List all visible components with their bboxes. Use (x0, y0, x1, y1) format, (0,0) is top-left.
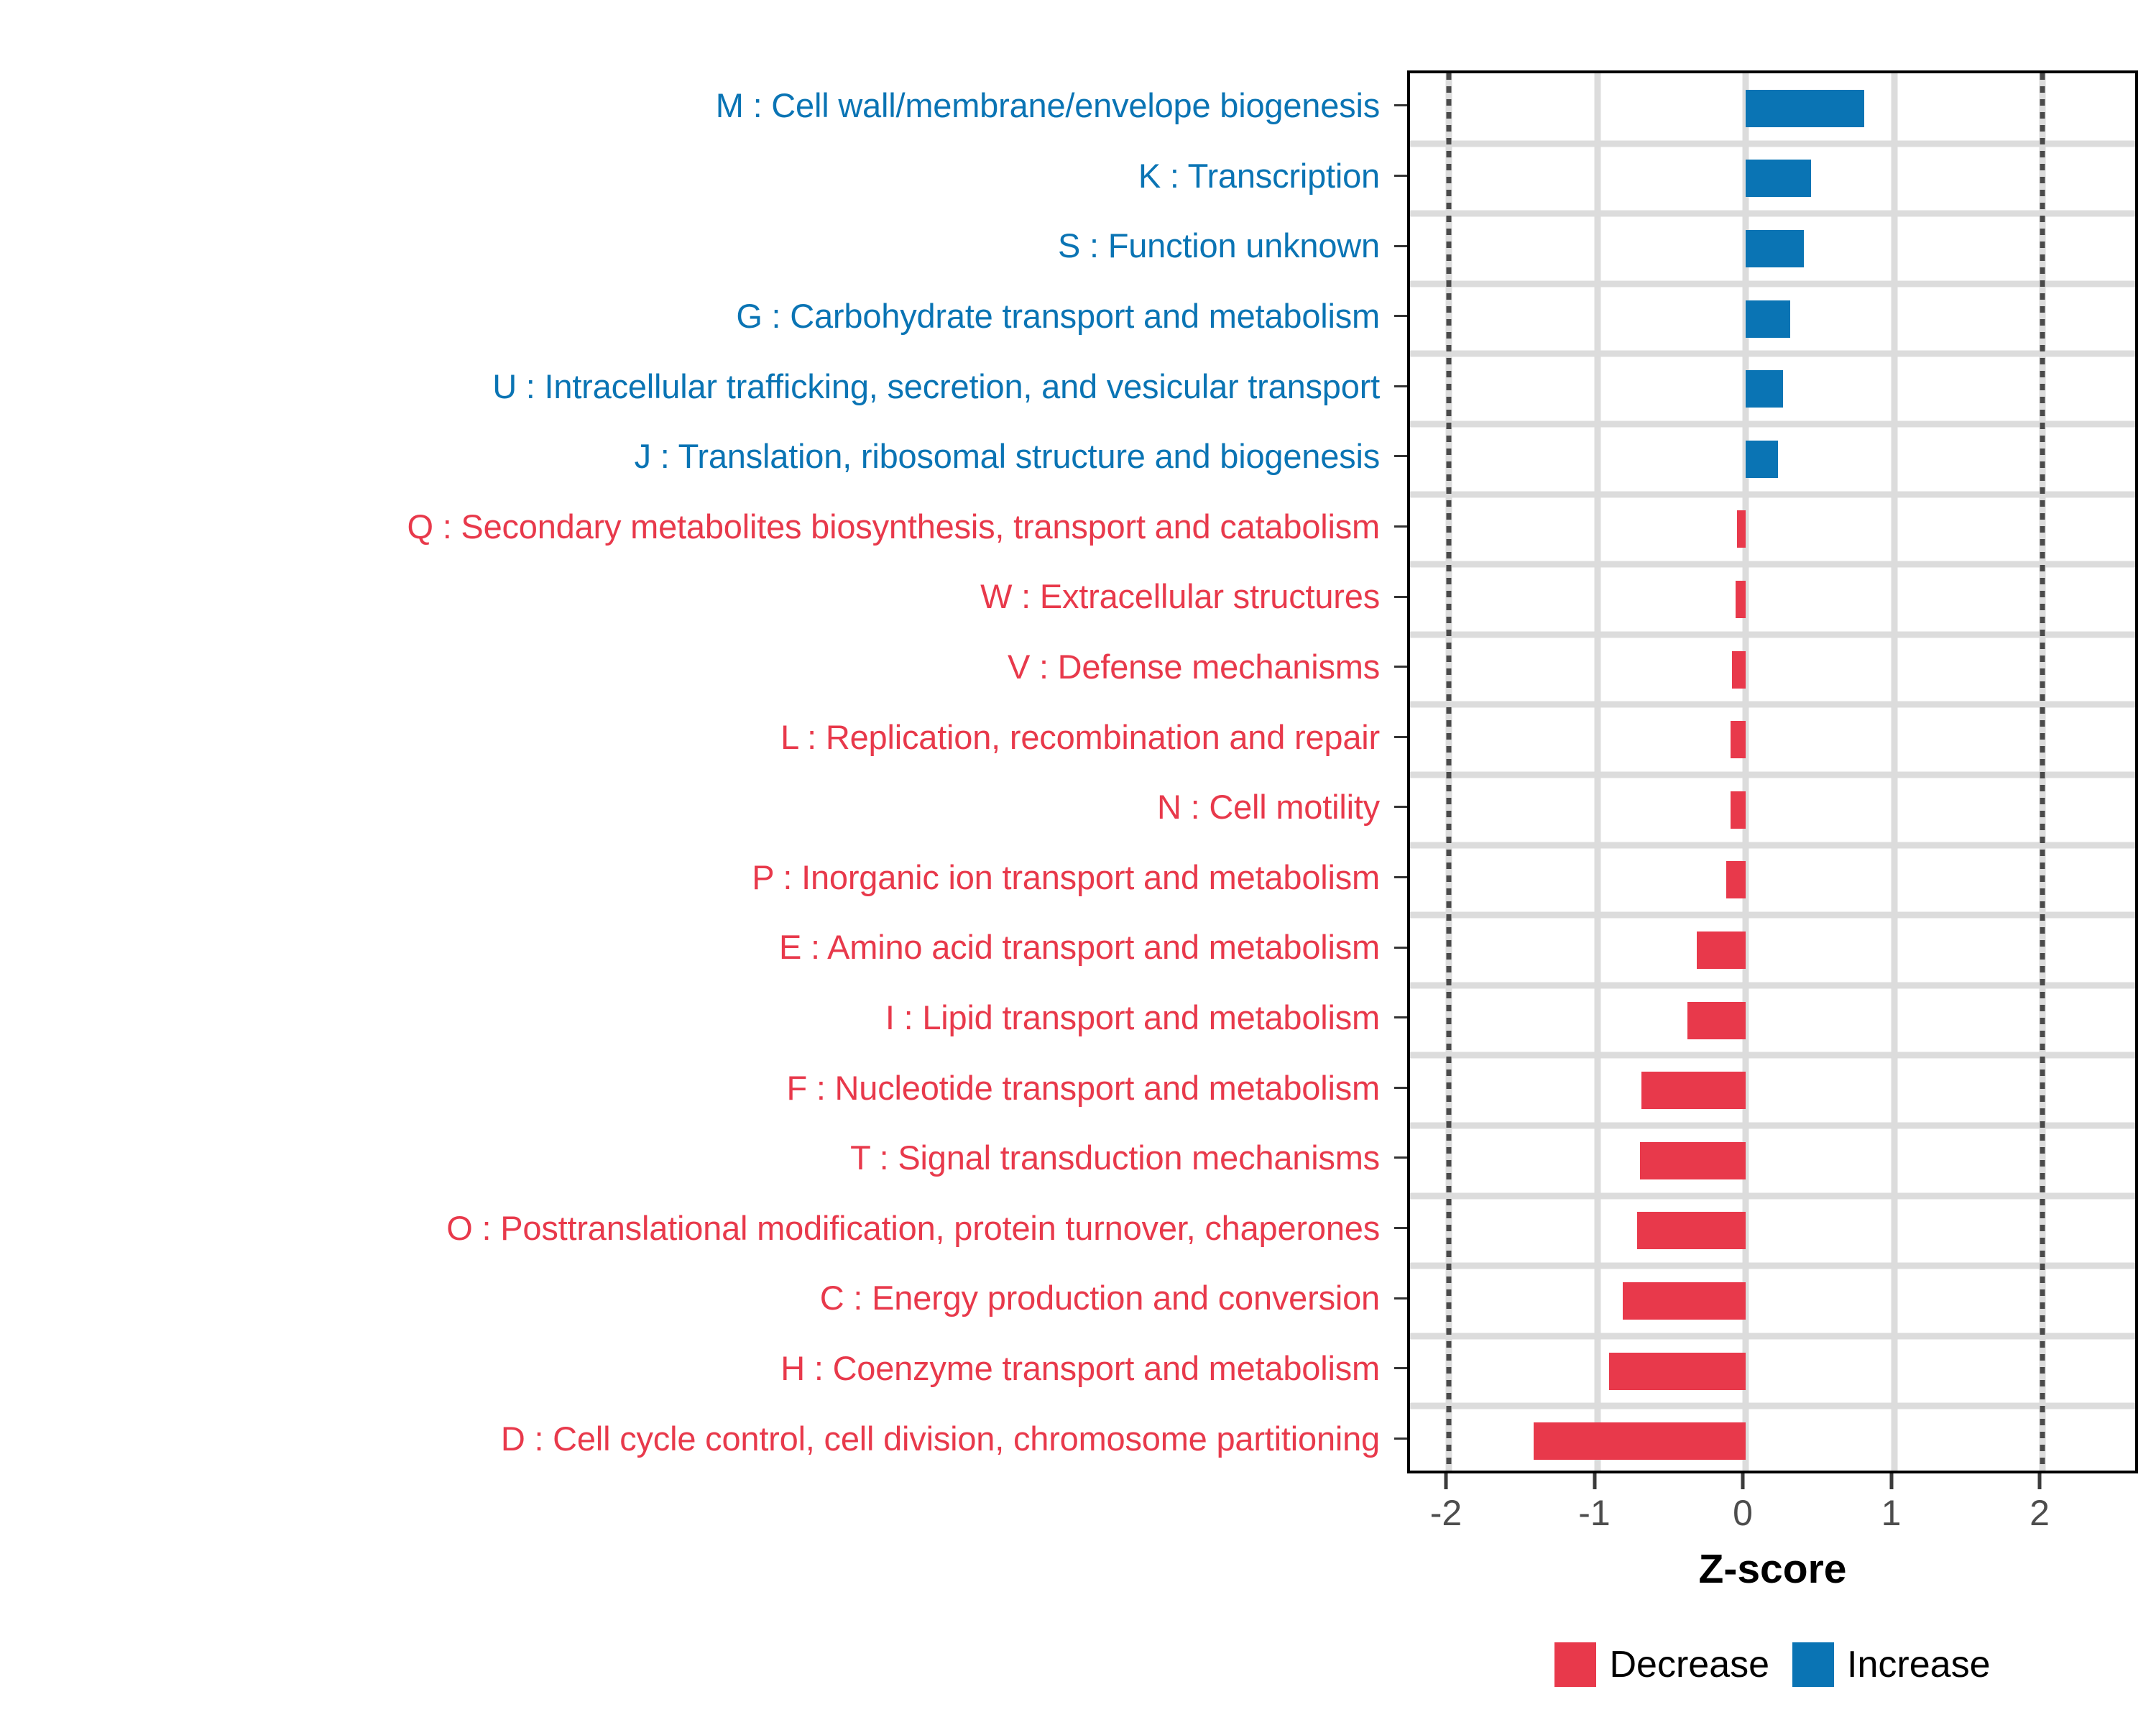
x-axis-tick (1741, 1473, 1745, 1489)
horizontal-gridline (1410, 1123, 2135, 1129)
x-axis-tick-label: 2 (2030, 1492, 2050, 1534)
category-axis-tick (1394, 666, 1407, 668)
x-axis-tick (2038, 1473, 2042, 1489)
category-label-row: G : Carbohydrate transport and metabolis… (0, 281, 1387, 351)
horizontal-gridline (1410, 1263, 2135, 1269)
category-label-row: H : Coenzyme transport and metabolism (0, 1333, 1387, 1404)
horizontal-gridline (1410, 491, 2135, 497)
bar (1637, 1212, 1746, 1249)
cog-zscore-chart: M : Cell wall/membrane/envelope biogenes… (0, 0, 2156, 1725)
category-label: P : Inorganic ion transport and metaboli… (752, 860, 1380, 894)
category-label-row: C : Energy production and conversion (0, 1263, 1387, 1333)
category-axis-tick (1394, 1016, 1407, 1018)
bar (1534, 1422, 1746, 1460)
category-label-row: L : Replication, recombination and repai… (0, 701, 1387, 772)
bar (1731, 791, 1746, 829)
legend-swatch-icon (1554, 1642, 1596, 1687)
bar (1697, 931, 1746, 969)
category-label: K : Transcription (1138, 159, 1380, 193)
category-label: H : Coenzyme transport and metabolism (780, 1351, 1380, 1385)
category-label: G : Carbohydrate transport and metabolis… (736, 299, 1380, 333)
horizontal-gridline (1410, 561, 2135, 568)
category-axis-tick (1394, 315, 1407, 317)
x-axis-tick (1593, 1473, 1596, 1489)
horizontal-gridline (1410, 842, 2135, 848)
category-axis-labels: M : Cell wall/membrane/envelope biogenes… (0, 70, 1387, 1473)
category-axis-tick (1394, 1297, 1407, 1299)
chart-legend: DecreaseIncrease (1407, 1642, 2138, 1687)
bar (1737, 510, 1746, 548)
bar (1609, 1353, 1746, 1390)
x-axis-tick-label: 0 (1733, 1492, 1753, 1534)
bar (1746, 90, 1864, 127)
bar (1726, 861, 1746, 898)
legend-label: Decrease (1609, 1643, 1769, 1686)
category-axis-tick (1394, 525, 1407, 528)
bar (1746, 441, 1778, 478)
category-label: U : Intracellular trafficking, secretion… (492, 369, 1380, 403)
category-label-row: O : Posttranslational modification, prot… (0, 1193, 1387, 1264)
category-label-row: T : Signal transduction mechanisms (0, 1123, 1387, 1193)
bar (1641, 1072, 1746, 1109)
legend-item[interactable]: Increase (1792, 1642, 1990, 1687)
category-label: D : Cell cycle control, cell division, c… (501, 1422, 1380, 1455)
plot-panel (1407, 70, 2138, 1473)
category-label: O : Posttranslational modification, prot… (446, 1211, 1380, 1245)
horizontal-gridline (1410, 351, 2135, 357)
category-label-row: W : Extracellular structures (0, 561, 1387, 632)
horizontal-gridline (1410, 982, 2135, 988)
category-axis-tick (1394, 876, 1407, 878)
category-axis-tick (1394, 806, 1407, 808)
category-axis-tick (1394, 947, 1407, 949)
bar (1746, 230, 1804, 267)
category-label-row: D : Cell cycle control, cell division, c… (0, 1403, 1387, 1473)
legend-item[interactable]: Decrease (1554, 1642, 1769, 1687)
legend-label: Increase (1847, 1643, 1990, 1686)
category-axis-tick (1394, 245, 1407, 247)
category-label: M : Cell wall/membrane/envelope biogenes… (716, 88, 1380, 122)
category-label: W : Extracellular structures (980, 579, 1380, 613)
reference-line (2040, 73, 2045, 1471)
category-axis-tick (1394, 1156, 1407, 1159)
category-label: T : Signal transduction mechanisms (850, 1141, 1380, 1174)
x-axis-tick (1889, 1473, 1893, 1489)
x-axis-tick-label: -1 (1578, 1492, 1610, 1534)
category-label-row: F : Nucleotide transport and metabolism (0, 1052, 1387, 1123)
x-axis-tick-label: -2 (1430, 1492, 1462, 1534)
category-axis-tick (1394, 104, 1407, 106)
category-axis-tick (1394, 1437, 1407, 1440)
category-axis-tick (1394, 175, 1407, 177)
category-label: L : Replication, recombination and repai… (780, 720, 1380, 754)
category-label: F : Nucleotide transport and metabolism (786, 1071, 1380, 1105)
bar (1746, 160, 1811, 197)
category-label-row: M : Cell wall/membrane/envelope biogenes… (0, 70, 1387, 141)
bar (1640, 1142, 1746, 1179)
horizontal-gridline (1410, 912, 2135, 919)
horizontal-gridline (1410, 701, 2135, 708)
category-label: C : Energy production and conversion (820, 1281, 1380, 1315)
category-label-row: K : Transcription (0, 141, 1387, 211)
horizontal-gridline (1410, 280, 2135, 287)
category-axis-tick (1394, 455, 1407, 457)
category-label: I : Lipid transport and metabolism (885, 1000, 1380, 1034)
category-axis-tick (1394, 385, 1407, 387)
category-axis-tick (1394, 736, 1407, 738)
horizontal-gridline (1410, 772, 2135, 778)
category-label-row: I : Lipid transport and metabolism (0, 983, 1387, 1053)
category-label-row: Q : Secondary metabolites biosynthesis, … (0, 492, 1387, 562)
category-axis-tick (1394, 1087, 1407, 1089)
category-label: E : Amino acid transport and metabolism (779, 930, 1380, 964)
category-label: Q : Secondary metabolites biosynthesis, … (407, 510, 1380, 543)
horizontal-gridline (1410, 1192, 2135, 1199)
category-label-row: E : Amino acid transport and metabolism (0, 912, 1387, 983)
x-axis-tick (1445, 1473, 1448, 1489)
horizontal-gridline (1410, 1333, 2135, 1339)
x-axis-title: Z-score (1407, 1545, 2138, 1593)
bar (1731, 721, 1746, 758)
horizontal-gridline (1410, 421, 2135, 428)
legend-swatch-icon (1792, 1642, 1834, 1687)
bar (1746, 300, 1790, 338)
bar (1736, 581, 1746, 618)
category-label-row: U : Intracellular trafficking, secretion… (0, 351, 1387, 421)
horizontal-gridline (1410, 211, 2135, 217)
category-label-row: N : Cell motility (0, 772, 1387, 842)
bar (1687, 1002, 1746, 1039)
category-label: S : Function unknown (1058, 229, 1380, 262)
category-label-row: V : Defense mechanisms (0, 632, 1387, 702)
category-label: N : Cell motility (1157, 790, 1380, 824)
category-axis-tick (1394, 1367, 1407, 1369)
category-label: V : Defense mechanisms (1008, 650, 1380, 684)
x-axis-tick-label: 1 (1881, 1492, 1902, 1534)
category-axis-tick (1394, 596, 1407, 598)
horizontal-gridline (1410, 631, 2135, 638)
reference-line (1447, 73, 1452, 1471)
category-label-row: P : Inorganic ion transport and metaboli… (0, 842, 1387, 913)
bar (1746, 370, 1783, 408)
bar (1623, 1282, 1746, 1320)
horizontal-gridline (1410, 1052, 2135, 1059)
category-label-row: J : Translation, ribosomal structure and… (0, 421, 1387, 492)
horizontal-gridline (1410, 140, 2135, 147)
horizontal-gridline (1410, 1403, 2135, 1409)
bar (1732, 651, 1746, 689)
category-axis-tick (1394, 1227, 1407, 1229)
category-label: J : Translation, ribosomal structure and… (635, 439, 1380, 473)
category-label-row: S : Function unknown (0, 211, 1387, 281)
